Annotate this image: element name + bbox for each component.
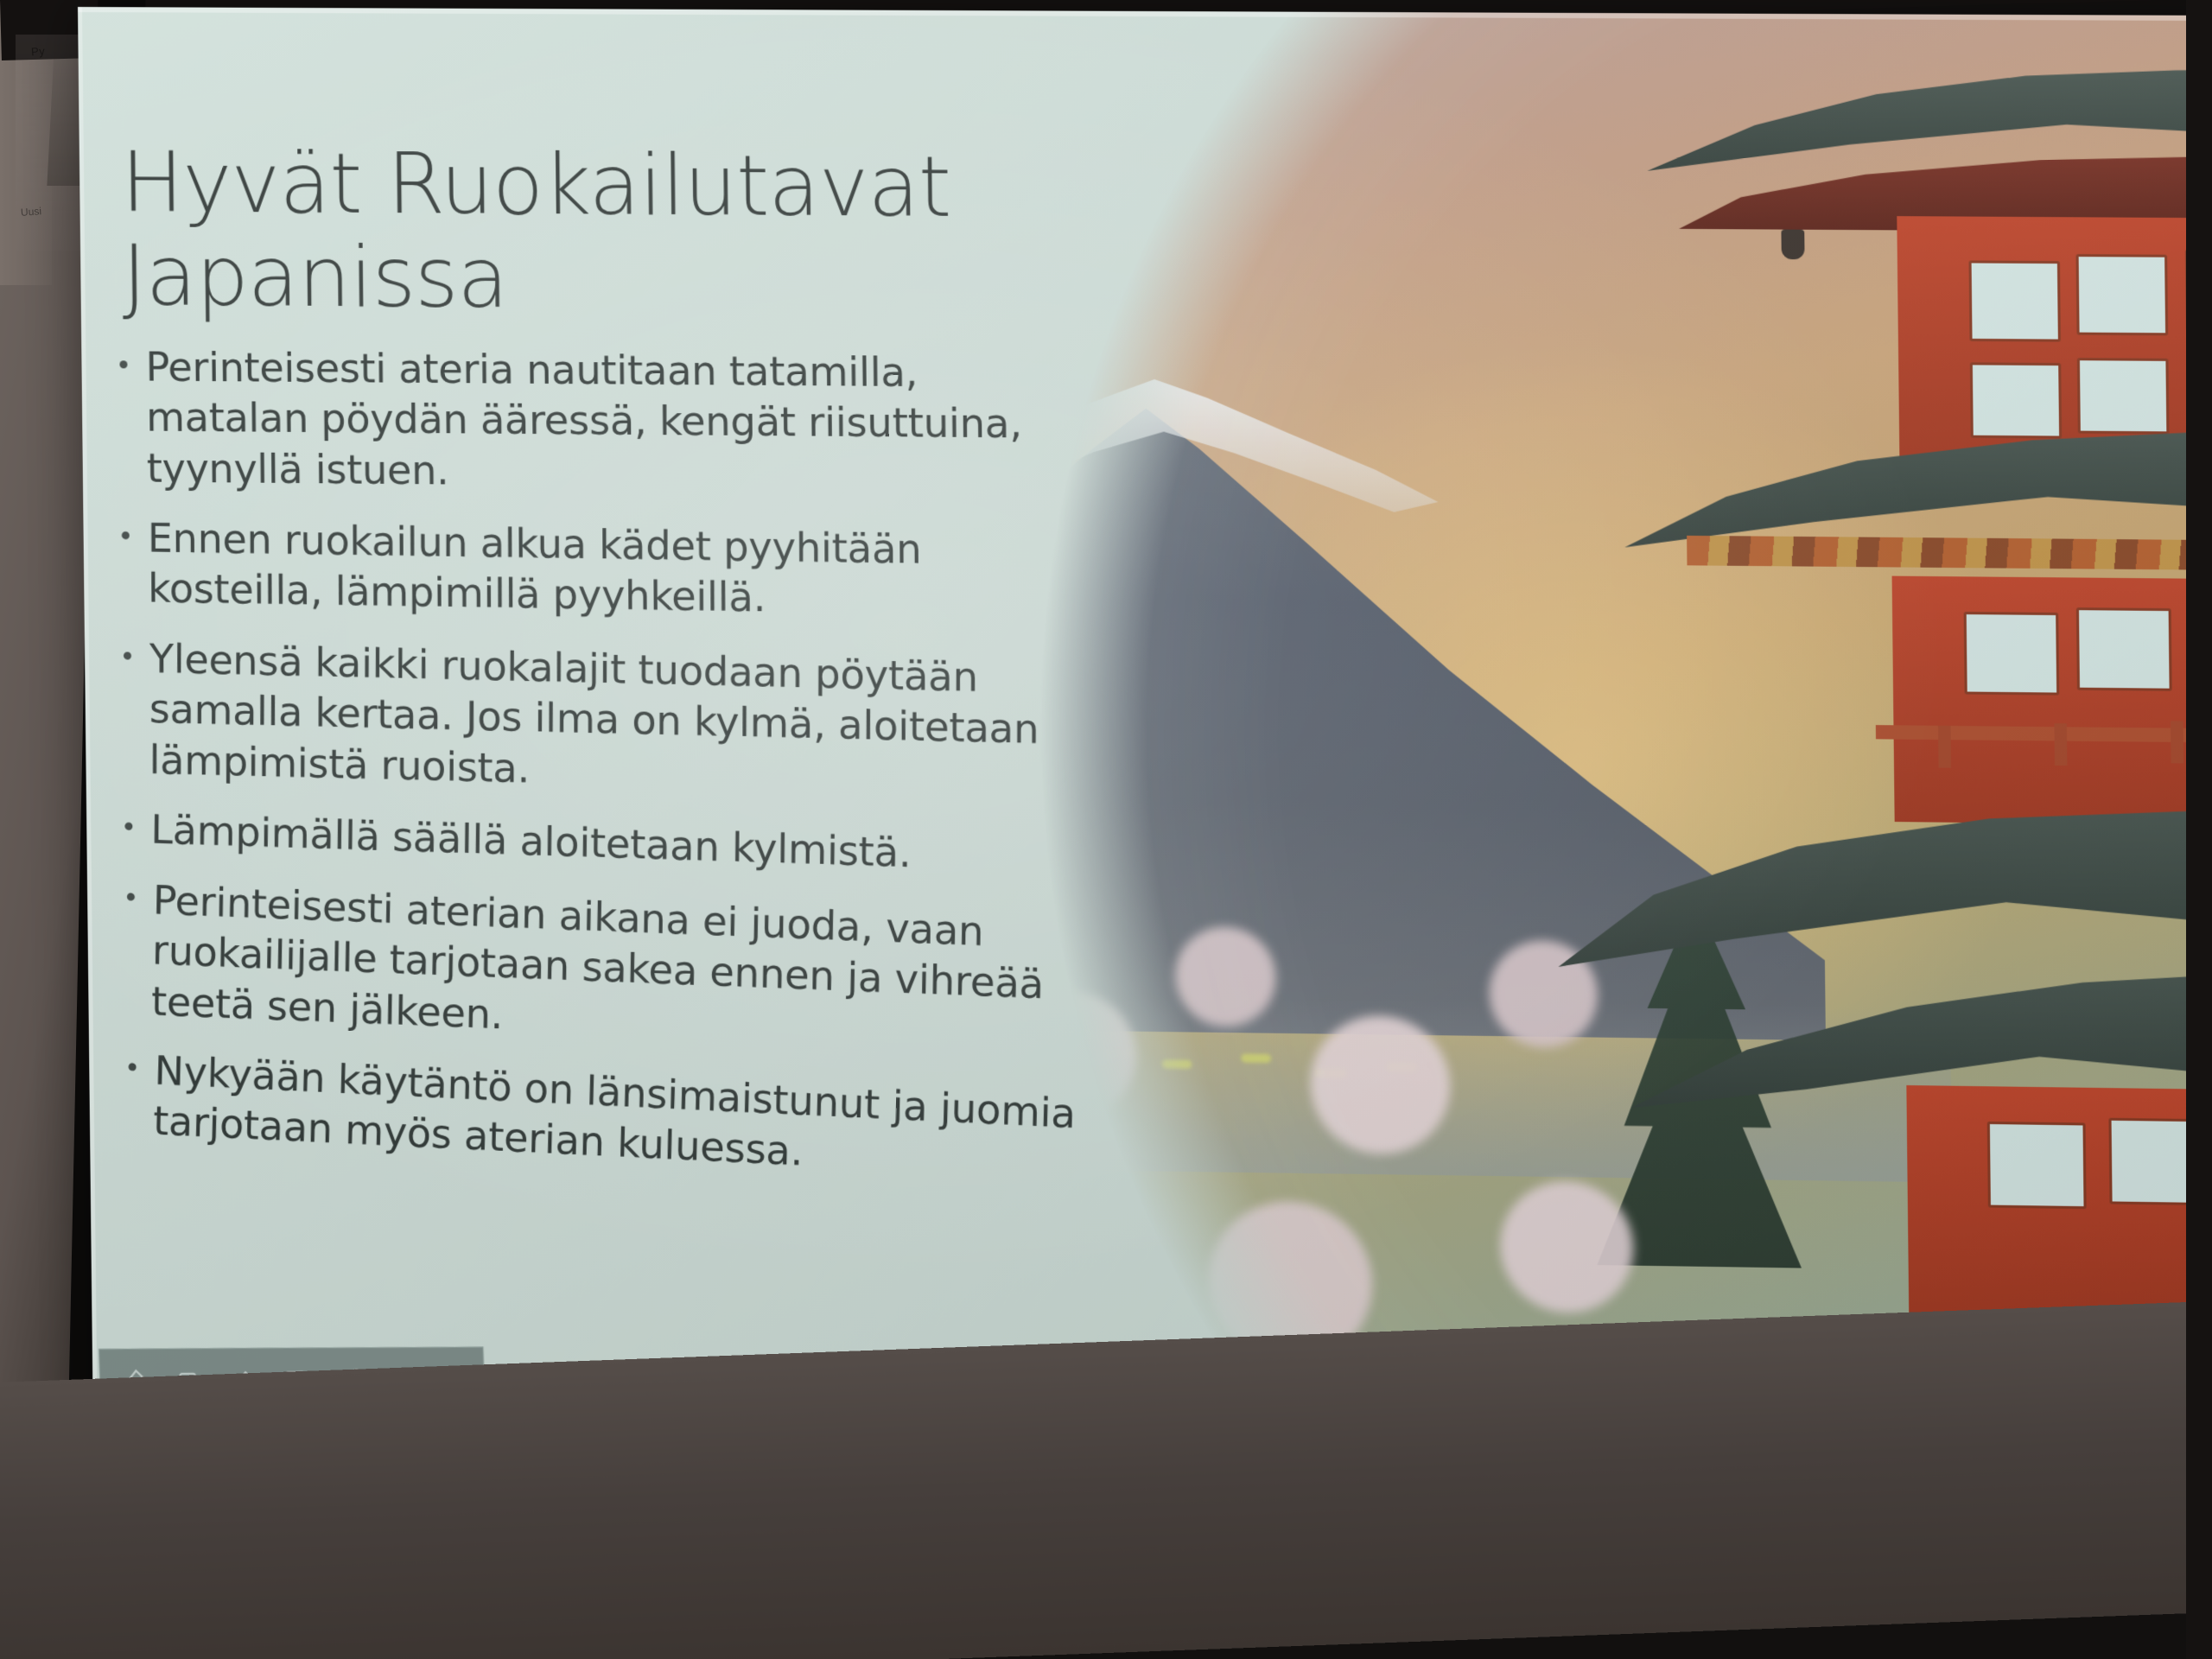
bullet-list: Perinteisesti ateria nautitaan tatamilla… — [107, 341, 1092, 1174]
pagoda-window — [2075, 254, 2168, 335]
pagoda-rail-post — [2054, 723, 2067, 766]
pagoda-temple — [1513, 48, 2212, 1373]
pagoda-roof-upper — [1646, 66, 2212, 175]
wall-right — [2186, 0, 2212, 1659]
list-item: Yleensä kaikki ruokalajit tuodaan pöytää… — [111, 632, 1089, 807]
title-line-2: Japanissa — [122, 230, 1084, 329]
slide-text-column: Hyvät Ruokailutavat Japanissa Perinteise… — [105, 137, 1093, 1197]
list-item: Perinteisesti ateria nautitaan tatamilla… — [107, 341, 1085, 501]
list-item: Ennen ruokailun alkua kädet pyyhitään ko… — [110, 512, 1087, 628]
pagoda-window — [2077, 358, 2170, 434]
pagoda-roof-lower — [1556, 800, 2212, 976]
pagoda-window — [1964, 612, 2060, 696]
temple-bell — [1781, 230, 1804, 260]
list-item: Perinteisesti aterian aikana ei juoda, v… — [113, 873, 1092, 1062]
pagoda-window — [1968, 260, 2061, 341]
pagoda-rail-post — [1938, 726, 1951, 768]
slide-canvas: Hyvät Ruokailutavat Japanissa Perinteise… — [78, 7, 2212, 1513]
pagoda-window — [1970, 362, 2062, 438]
title-line-1: Hyvät Ruokailutavat — [121, 137, 1083, 235]
list-item: Nykyään käytäntö on länsimaistunut ja ju… — [115, 1043, 1094, 1191]
pagoda-eave-stripe — [1687, 536, 2212, 571]
background-window-subtitle: Uusi — [21, 205, 42, 219]
slide-image-japan-temple — [966, 7, 2212, 1513]
background-window-title: Py — [30, 44, 45, 58]
pagoda-window — [1987, 1122, 2087, 1209]
page-title: Hyvät Ruokailutavat Japanissa — [121, 137, 1084, 329]
pagoda-window — [2076, 607, 2172, 691]
list-item: Lämpimällä säällä aloitetaan kylmistä. — [112, 803, 1090, 884]
projection-room: Py Uusi — [0, 0, 2212, 1659]
projected-slide[interactable]: Hyvät Ruokailutavat Japanissa Perinteise… — [78, 7, 2212, 1513]
pagoda-rail-post — [2171, 721, 2183, 763]
